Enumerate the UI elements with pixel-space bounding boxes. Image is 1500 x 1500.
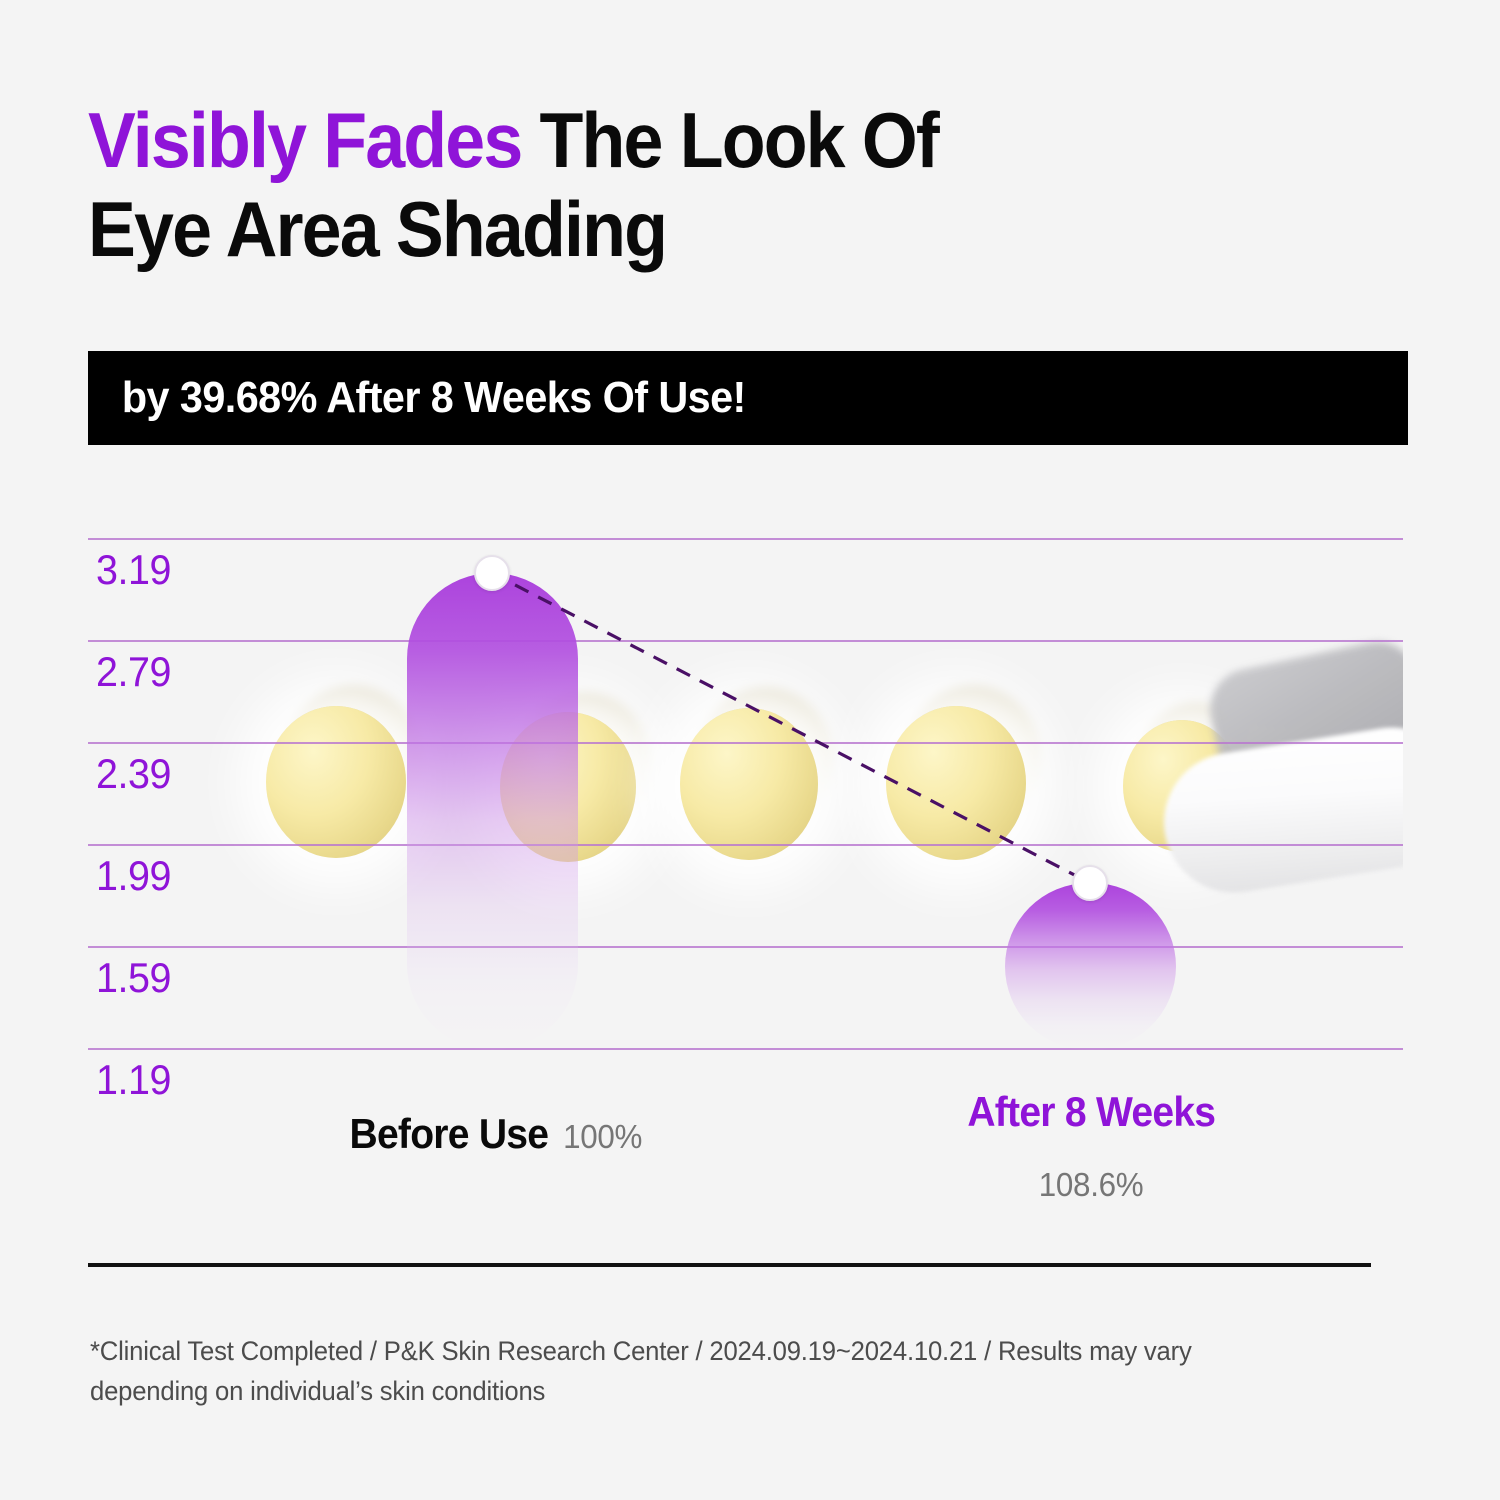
footnote-text: *Clinical Test Completed / P&K Skin Rese… bbox=[90, 1332, 1311, 1412]
x-axis-label-before: Before Use bbox=[350, 1110, 549, 1158]
headline-accent: Visibly Fades bbox=[88, 96, 521, 184]
x-axis-percent-before: 100% bbox=[563, 1118, 642, 1156]
x-axis-labels: Before Use 100% After 8 Weeks 108.6% bbox=[88, 1088, 1403, 1218]
banner-text: by 39.68% After 8 Weeks Of Use! bbox=[88, 373, 746, 423]
highlight-banner: by 39.68% After 8 Weeks Of Use! bbox=[88, 351, 1408, 445]
data-point-before-use bbox=[474, 555, 510, 591]
chart-plot-area: 3.19 2.79 2.39 1.99 1.59 1.19 bbox=[88, 480, 1403, 1100]
page-title: Visibly Fades The Look Of Eye Area Shadi… bbox=[88, 96, 1284, 274]
x-axis-group-before: Before Use 100% bbox=[313, 1088, 673, 1158]
trend-line bbox=[88, 480, 1403, 1100]
footer-divider bbox=[88, 1263, 1371, 1267]
data-point-after-8-weeks bbox=[1072, 865, 1108, 901]
x-axis-percent-after: 108.6% bbox=[1039, 1166, 1144, 1204]
x-axis-label-after: After 8 Weeks bbox=[967, 1088, 1215, 1136]
results-chart: 3.19 2.79 2.39 1.99 1.59 1.19 bbox=[0, 480, 1500, 1120]
x-axis-group-after: After 8 Weeks 108.6% bbox=[911, 1088, 1271, 1204]
